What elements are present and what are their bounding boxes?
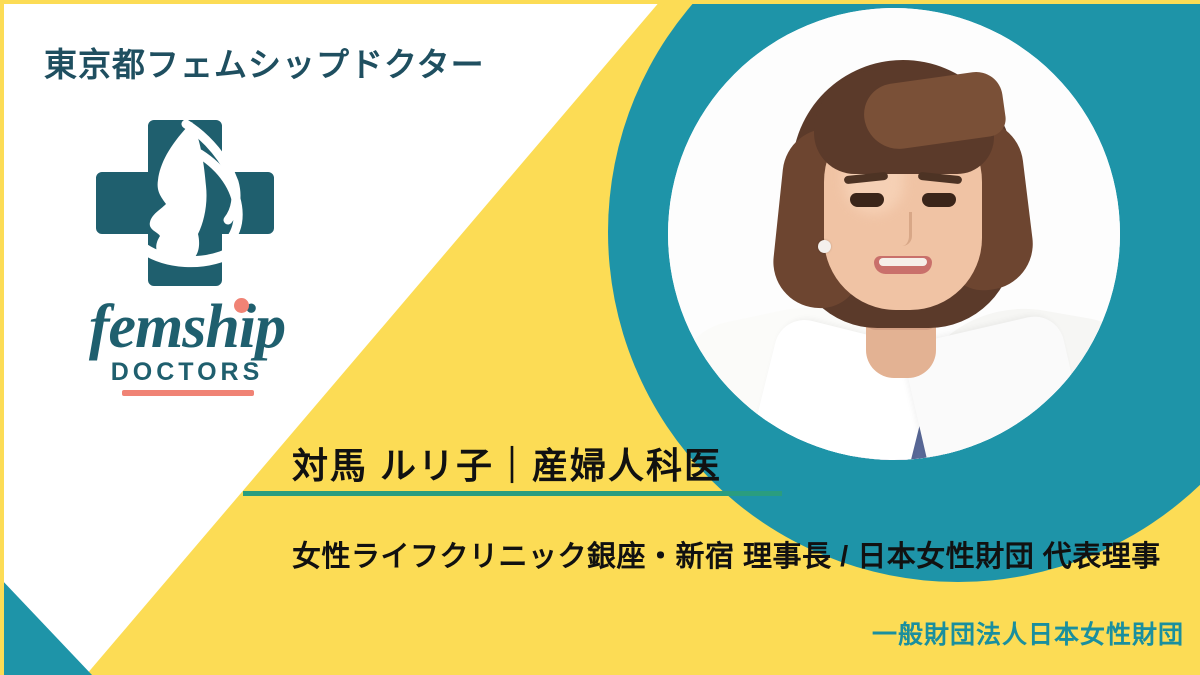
portrait-photo-circle xyxy=(668,8,1120,460)
femship-underline xyxy=(122,390,254,396)
organization-footer: 一般財団法人日本女性財団 xyxy=(872,615,1184,651)
portrait-eye-right xyxy=(922,193,956,207)
portrait-nose xyxy=(894,212,912,246)
name-divider xyxy=(243,491,782,496)
femship-wordmark: femship xyxy=(62,296,312,358)
page-title: 東京都フェムシップドクター xyxy=(44,38,485,86)
femship-doctors-label: DOCTORS xyxy=(62,358,312,387)
femship-i-dot-icon xyxy=(234,298,249,313)
portrait-teeth xyxy=(879,258,927,266)
doctor-affiliation: 女性ライフクリニック銀座・新宿 理事長 / 日本女性財団 代表理事 xyxy=(292,533,1161,575)
slide-canvas: 東京都フェムシップドクター femship DOCTORS 対馬 ルリ子｜産婦人… xyxy=(0,0,1200,675)
frame-left-border xyxy=(0,0,4,675)
femship-logo: femship DOCTORS xyxy=(62,118,312,390)
frame-top-border xyxy=(0,0,1200,4)
portrait-earring xyxy=(818,240,831,253)
portrait-image xyxy=(668,8,1120,460)
femship-cross-woman-profile-icon xyxy=(80,118,290,300)
doctor-name-line: 対馬 ルリ子｜産婦人科医 xyxy=(292,437,722,489)
portrait-eye-left xyxy=(850,193,884,207)
